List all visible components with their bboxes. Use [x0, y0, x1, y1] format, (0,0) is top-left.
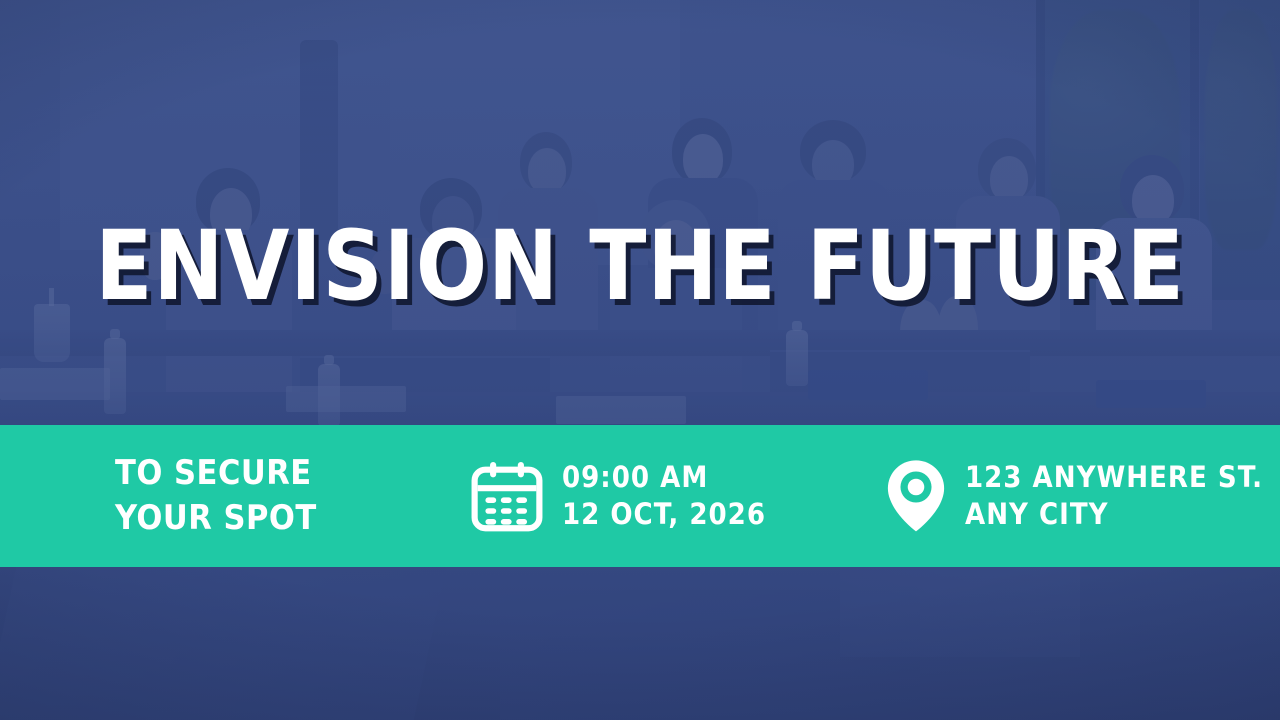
event-date: 12 OCT, 2026 [562, 496, 766, 533]
event-time: 09:00 AM [562, 459, 766, 496]
page-title: ENVISION THE FUTURE [19, 218, 1261, 314]
cta-line-1: TO SECURE [115, 451, 317, 496]
event-address: 123 ANYWHERE ST. ANY CITY [965, 459, 1263, 533]
event-details-band: TO SECURE YOUR SPOT [0, 425, 1280, 567]
event-date-block: 09:00 AM 12 OCT, 2026 [470, 459, 766, 533]
address-line-1: 123 ANYWHERE ST. [965, 459, 1263, 496]
cta-line-2: YOUR SPOT [115, 496, 317, 541]
event-datetime: 09:00 AM 12 OCT, 2026 [562, 459, 766, 533]
calendar-icon [470, 459, 544, 533]
cta-text: TO SECURE YOUR SPOT [115, 451, 317, 541]
event-location-block: 123 ANYWHERE ST. ANY CITY [885, 459, 1263, 533]
contact-footer: +123-456-7890 Mail@brandname.com [0, 567, 1280, 720]
map-pin-icon [885, 459, 947, 533]
address-line-2: ANY CITY [965, 496, 1263, 533]
event-banner: ENVISION THE FUTURE TO SECURE YOUR SPOT [0, 0, 1280, 720]
